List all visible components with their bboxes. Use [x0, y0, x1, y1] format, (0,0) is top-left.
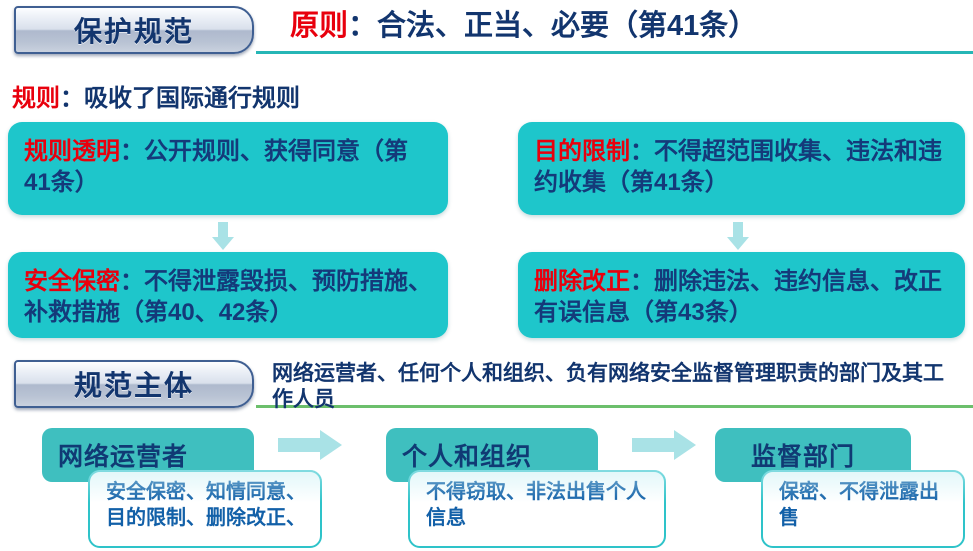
- rule-box-deletion-correction-term: 删除改正: [534, 268, 630, 295]
- principle-headline-term: 原则: [290, 10, 348, 42]
- subject-card-network-operator-body: 安全保密、知情同意、目的限制、删除改正、: [88, 470, 322, 548]
- subject-card-individuals-organizations-duties: 不得窃取、非法出售个人信息: [426, 481, 646, 529]
- subject-card-supervisory-department-body: 保密、不得泄露出售: [761, 470, 965, 548]
- principle-headline: 原则：合法、正当、必要（第41条）: [290, 9, 757, 44]
- section-header-regulated-subjects-label: 规范主体: [74, 364, 194, 404]
- regulated-subjects-description-text: 网络运营者、任何个人和组织、负有网络安全监督管理职责的部门及其工作人员: [272, 362, 944, 411]
- section-header-protection-norms-label: 保护规范: [74, 10, 194, 50]
- down-arrow-icon-left: [212, 222, 234, 250]
- rule-box-transparency-term: 规则透明: [24, 138, 120, 165]
- rule-box-deletion-correction[interactable]: 删除改正：删除违法、违约信息、改正有误信息（第43条）: [518, 252, 965, 338]
- rules-subheadline-detail: ：吸收了国际通行规则: [60, 85, 300, 112]
- regulated-subjects-description: 网络运营者、任何个人和组织、负有网络安全监督管理职责的部门及其工作人员: [272, 361, 962, 412]
- subject-card-supervisory-department-title: 监督部门: [715, 437, 855, 473]
- subject-card-individuals-organizations-body: 不得窃取、非法出售个人信息: [408, 470, 666, 548]
- rule-box-security-confidentiality-sep: ：: [120, 268, 144, 295]
- subject-card-individuals-organizations-title: 个人和组织: [386, 437, 532, 473]
- right-arrow-icon-1: [278, 430, 342, 460]
- section-header-regulated-subjects[interactable]: 规范主体: [14, 360, 254, 408]
- down-arrow-icon-right: [727, 222, 749, 250]
- subject-card-individuals-organizations[interactable]: 个人和组织 不得窃取、非法出售个人信息: [386, 428, 666, 548]
- subject-card-network-operator-duties: 安全保密、知情同意、目的限制、删除改正、: [106, 481, 306, 529]
- rule-box-transparency-sep: ：: [120, 138, 144, 165]
- rule-box-purpose-limitation-sep: ：: [630, 138, 654, 165]
- subject-card-supervisory-department-duties: 保密、不得泄露出售: [779, 481, 939, 529]
- rule-box-purpose-limitation[interactable]: 目的限制：不得超范围收集、违法和违约收集（第41条）: [518, 122, 965, 215]
- subject-card-network-operator-title: 网络运营者: [42, 437, 188, 473]
- rules-subheadline: 规则：吸收了国际通行规则: [12, 84, 300, 113]
- section-divider-protection-norms: [256, 51, 973, 54]
- right-arrow-icon-2: [632, 430, 696, 460]
- rule-box-purpose-limitation-term: 目的限制: [534, 138, 630, 165]
- principle-headline-detail: ：合法、正当、必要（第41条）: [348, 10, 757, 42]
- rule-box-transparency[interactable]: 规则透明：公开规则、获得同意（第41条）: [8, 122, 448, 215]
- subject-card-supervisory-department[interactable]: 监督部门 保密、不得泄露出售: [715, 428, 965, 548]
- rule-box-deletion-correction-sep: ：: [630, 268, 654, 295]
- rule-box-security-confidentiality[interactable]: 安全保密：不得泄露毁损、预防措施、补救措施（第40、42条）: [8, 252, 448, 338]
- rules-subheadline-term: 规则: [12, 85, 60, 112]
- section-header-protection-norms[interactable]: 保护规范: [14, 6, 254, 54]
- rule-box-security-confidentiality-term: 安全保密: [24, 268, 120, 295]
